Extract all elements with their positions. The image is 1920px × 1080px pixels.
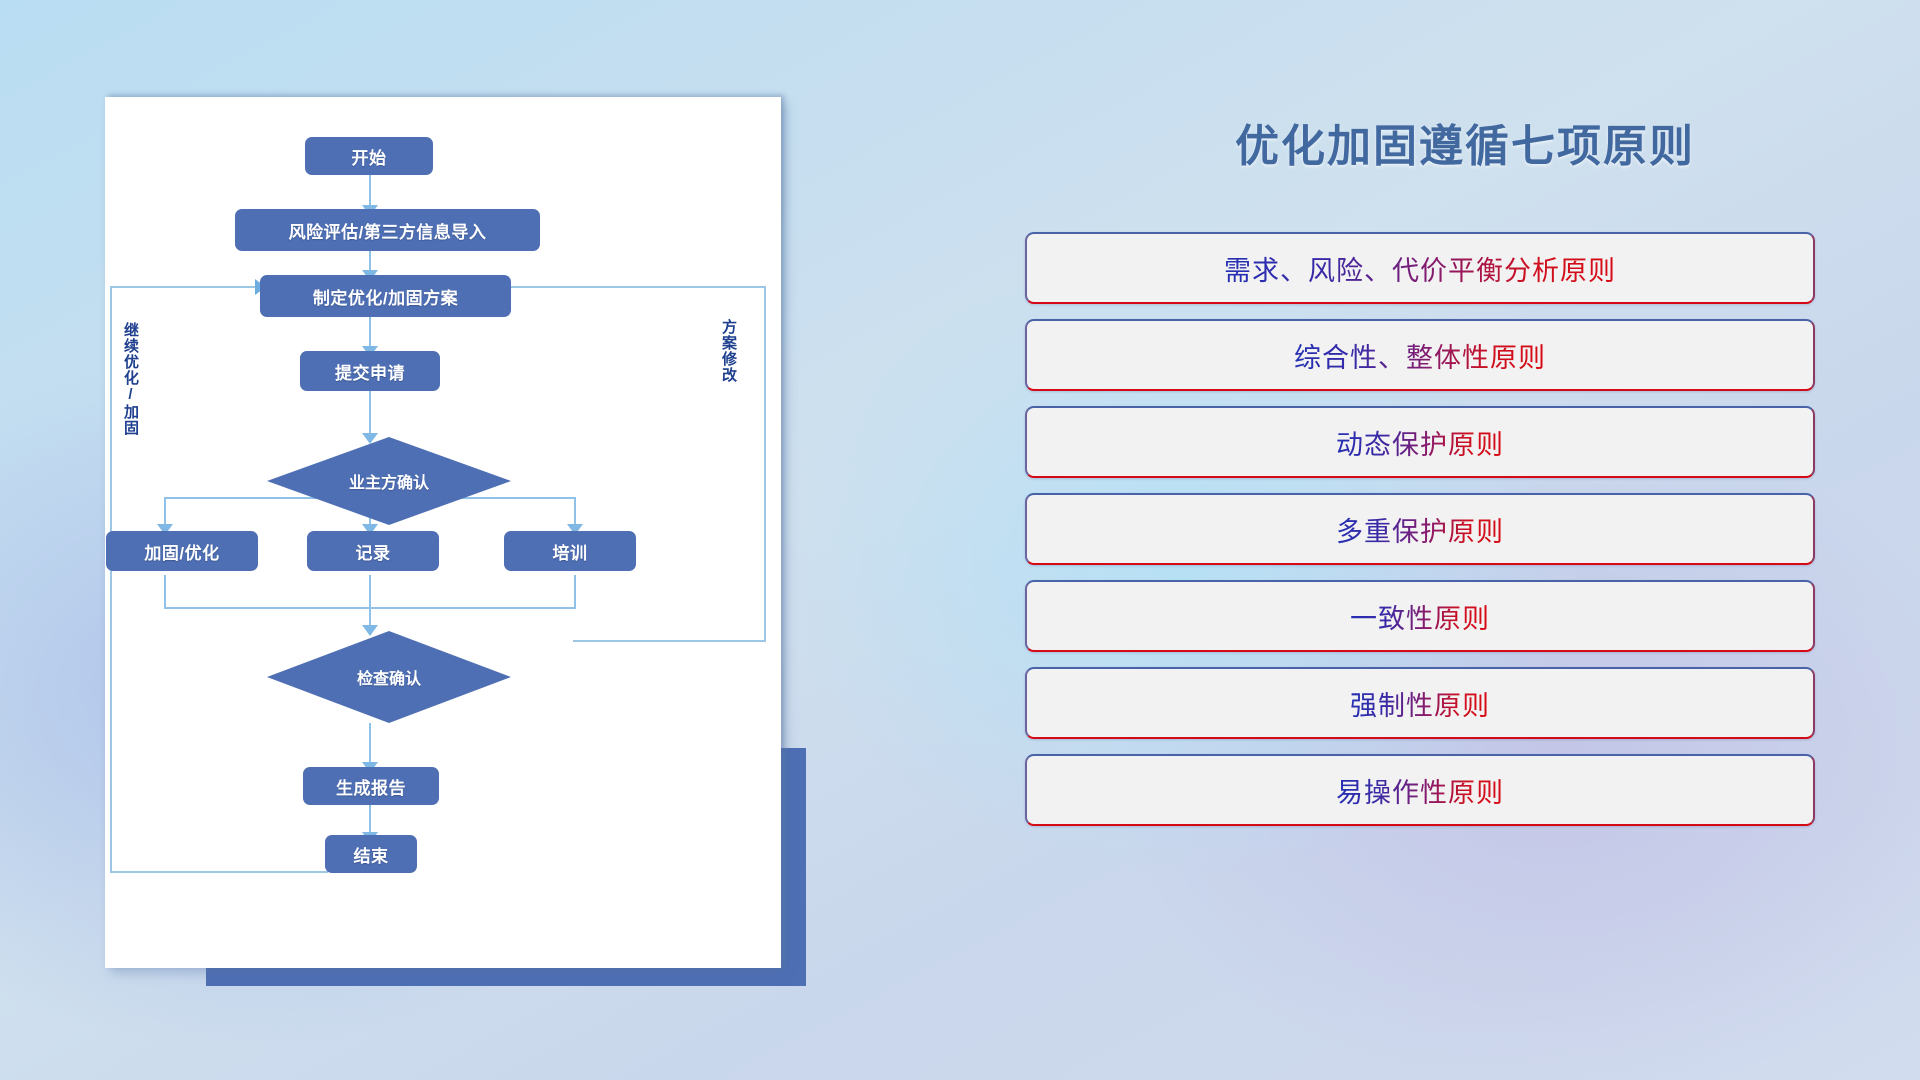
node-owner-confirm[interactable]: 业主方确认 [267, 437, 511, 525]
node-generate-report-label: 生成报告 [336, 774, 406, 799]
principle-item-6[interactable]: 强制性原则 [1025, 667, 1815, 739]
node-record-label: 记录 [356, 539, 391, 564]
merge-right-rise [574, 575, 576, 609]
principle-item-5-label: 一致性原则 [1350, 597, 1490, 636]
node-risk-assessment[interactable]: 风险评估/第三方信息导入 [235, 209, 540, 251]
node-reinforce[interactable]: 加固/优化 [106, 531, 258, 571]
node-submit-application-label: 提交申请 [335, 359, 405, 384]
node-training[interactable]: 培训 [504, 531, 636, 571]
principle-item-4[interactable]: 多重保护原则 [1025, 493, 1815, 565]
node-check-confirm-label: 检查确认 [357, 665, 421, 689]
flowchart-panel: 开始 风险评估/第三方信息导入 制定优化/加固方案 提交申请 业主方确认 加固/… [0, 0, 860, 1080]
edge-submit-to-owner [369, 387, 371, 435]
edge-check-to-report [369, 723, 371, 765]
principle-item-4-label: 多重保护原则 [1336, 510, 1504, 549]
node-start[interactable]: 开始 [305, 137, 433, 175]
flowchart-card: 开始 风险评估/第三方信息导入 制定优化/加固方案 提交申请 业主方确认 加固/… [105, 97, 781, 968]
node-training-label: 培训 [553, 539, 588, 564]
principle-item-2[interactable]: 综合性、整体性原则 [1025, 319, 1815, 391]
node-start-label: 开始 [352, 144, 387, 169]
node-risk-assessment-label: 风险评估/第三方信息导入 [289, 218, 487, 243]
node-owner-confirm-label: 业主方确认 [349, 469, 429, 493]
node-end[interactable]: 结束 [325, 835, 417, 873]
principle-item-6-label: 强制性原则 [1350, 684, 1490, 723]
right-loop-vertical [764, 286, 766, 642]
merge-left-rise [164, 575, 166, 609]
principle-item-7[interactable]: 易操作性原则 [1025, 754, 1815, 826]
node-submit-application[interactable]: 提交申请 [300, 351, 440, 391]
node-plan-label: 制定优化/加固方案 [313, 284, 458, 309]
principles-list: 需求、风险、代价平衡分析原则 综合性、整体性原则 动态保护原则 多重保护原则 一… [1025, 232, 1815, 841]
arrow-merge-to-check [362, 625, 378, 636]
right-loop-bottom [573, 640, 766, 642]
node-plan[interactable]: 制定优化/加固方案 [260, 275, 511, 317]
node-reinforce-label: 加固/优化 [144, 539, 219, 564]
principle-item-3[interactable]: 动态保护原则 [1025, 406, 1815, 478]
fan-left-drop [164, 497, 166, 527]
right-loop-top [490, 286, 766, 288]
node-check-confirm[interactable]: 检查确认 [267, 631, 511, 723]
principles-panel: 优化加固遵循七项原则 需求、风险、代价平衡分析原则 综合性、整体性原则 动态保护… [1010, 0, 1920, 1080]
node-end-label: 结束 [354, 842, 389, 867]
principle-item-1-label: 需求、风险、代价平衡分析原则 [1224, 249, 1616, 288]
left-loop-top [110, 286, 258, 288]
page-title: 优化加固遵循七项原则 [1010, 110, 1920, 174]
node-generate-report[interactable]: 生成报告 [303, 767, 439, 805]
left-loop-vertical [110, 286, 112, 873]
principle-item-2-label: 综合性、整体性原则 [1294, 336, 1546, 375]
principle-item-5[interactable]: 一致性原则 [1025, 580, 1815, 652]
fan-right-drop [574, 497, 576, 527]
edge-label-right-loop: 方案修改 [721, 319, 736, 383]
principle-item-3-label: 动态保护原则 [1336, 423, 1504, 462]
edge-merge-to-check [369, 575, 371, 629]
edge-report-to-end [369, 803, 371, 835]
edge-label-left-loop: 继续优化/加固 [123, 322, 138, 436]
principle-item-7-label: 易操作性原则 [1336, 771, 1504, 810]
left-loop-bottom [110, 871, 328, 873]
node-record[interactable]: 记录 [307, 531, 439, 571]
principle-item-1[interactable]: 需求、风险、代价平衡分析原则 [1025, 232, 1815, 304]
